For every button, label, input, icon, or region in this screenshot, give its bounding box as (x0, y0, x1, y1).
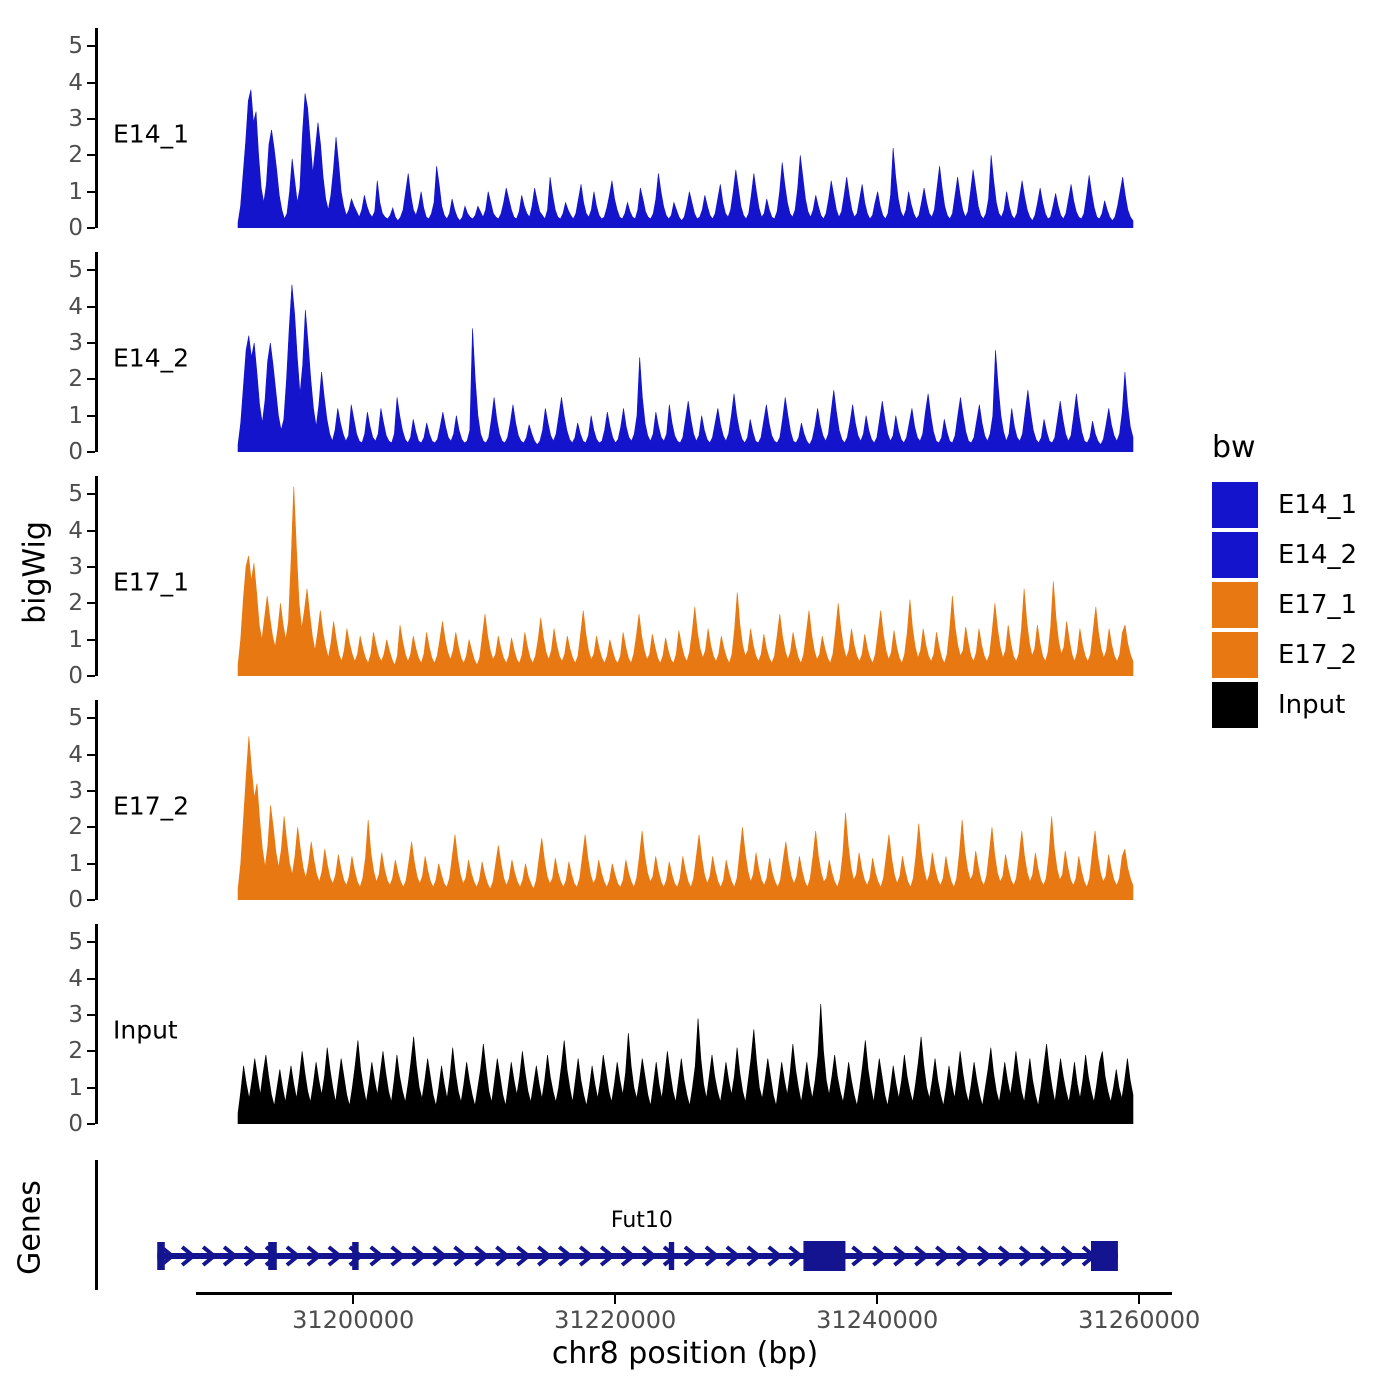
legend-item-e14_1[interactable]: E14_1 (1212, 482, 1357, 528)
y-tick-label: 2 (47, 1038, 83, 1064)
y-tick (87, 191, 95, 193)
legend-label: Input (1278, 690, 1345, 720)
y-tick (87, 82, 95, 84)
y-tick-label: 3 (47, 554, 83, 580)
x-tick-label: 31240000 (816, 1306, 938, 1334)
y-tick (87, 530, 95, 532)
x-tick-label: 31220000 (554, 1306, 676, 1334)
x-axis-title: chr8 position (bp) (400, 1336, 970, 1371)
y-tick-label: 1 (47, 403, 83, 429)
y-tick (87, 717, 95, 719)
y-tick (87, 754, 95, 756)
y-tick (87, 154, 95, 156)
y-tick (87, 941, 95, 943)
y-tick-label: 3 (47, 330, 83, 356)
y-tick-label: 5 (47, 257, 83, 283)
y-tick (87, 493, 95, 495)
y-tick (87, 1123, 95, 1125)
signal-area-e17_1 (98, 476, 1175, 676)
legend: bw E14_1E14_2E17_1E17_2Input (1212, 430, 1392, 680)
y-tick-label: 0 (47, 887, 83, 913)
y-tick (87, 826, 95, 828)
y-tick-label: 5 (47, 705, 83, 731)
y-tick-label: 4 (47, 966, 83, 992)
y-tick-label: 2 (47, 814, 83, 840)
y-tick (87, 118, 95, 120)
y-tick-label: 1 (47, 851, 83, 877)
signal-area-e14_2 (98, 252, 1175, 452)
legend-swatch-e14_1 (1212, 482, 1258, 528)
legend-swatch-input (1212, 682, 1258, 728)
legend-label: E17_2 (1278, 640, 1357, 670)
signal-area-e14_1 (98, 28, 1175, 228)
legend-label: E17_1 (1278, 590, 1357, 620)
track-panel-e14_1: 012345E14_1 (95, 28, 1175, 228)
x-tick-label: 31260000 (1078, 1306, 1200, 1334)
y-tick-label: 3 (47, 778, 83, 804)
signal-area-input (98, 924, 1175, 1124)
legend-item-e17_1[interactable]: E17_1 (1212, 582, 1357, 628)
gene-name-label: Fut10 (611, 1208, 673, 1233)
y-tick (87, 639, 95, 641)
x-tick (1138, 1295, 1140, 1304)
y-tick-label: 1 (47, 627, 83, 653)
y-tick (87, 978, 95, 980)
legend-title: bw (1212, 430, 1256, 465)
gene-track-panel: Fut10 (95, 1160, 1175, 1290)
legend-swatch-e14_2 (1212, 532, 1258, 578)
y-tick-label: 2 (47, 142, 83, 168)
y-tick-label: 1 (47, 1075, 83, 1101)
y-tick (87, 899, 95, 901)
legend-swatch-e17_2 (1212, 632, 1258, 678)
y-tick-label: 2 (47, 590, 83, 616)
y-tick (87, 863, 95, 865)
legend-item-e14_2[interactable]: E14_2 (1212, 532, 1357, 578)
y-tick (87, 602, 95, 604)
y-tick-label: 1 (47, 179, 83, 205)
y-tick (87, 451, 95, 453)
y-tick-label: 5 (47, 929, 83, 955)
y-tick-label: 2 (47, 366, 83, 392)
y-tick-label: 5 (47, 33, 83, 59)
y-tick-label: 3 (47, 106, 83, 132)
y-tick (87, 1087, 95, 1089)
y-tick (87, 675, 95, 677)
y-tick-label: 5 (47, 481, 83, 507)
legend-item-input[interactable]: Input (1212, 682, 1345, 728)
track-panel-e14_2: 012345E14_2 (95, 252, 1175, 452)
x-tick (614, 1295, 616, 1304)
y-tick (87, 566, 95, 568)
track-panel-input: 012345Input (95, 924, 1175, 1124)
y-tick-label: 4 (47, 518, 83, 544)
legend-item-e17_2[interactable]: E17_2 (1212, 632, 1357, 678)
y-tick (87, 306, 95, 308)
x-tick (352, 1295, 354, 1304)
y-tick (87, 342, 95, 344)
y-tick (87, 227, 95, 229)
y-tick (87, 790, 95, 792)
y-tick-label: 4 (47, 70, 83, 96)
y-tick (87, 45, 95, 47)
y-tick-label: 4 (47, 294, 83, 320)
y-tick-label: 0 (47, 215, 83, 241)
signal-area-e17_2 (98, 700, 1175, 900)
y-tick (87, 415, 95, 417)
y-tick-label: 4 (47, 742, 83, 768)
gene-axis-title: Genes (13, 1158, 48, 1298)
y-tick-label: 0 (47, 663, 83, 689)
track-panel-e17_2: 012345E17_2 (95, 700, 1175, 900)
y-tick (87, 378, 95, 380)
legend-label: E14_2 (1278, 540, 1357, 570)
track-panel-e17_1: 012345E17_1 (95, 476, 1175, 676)
y-tick-label: 0 (47, 439, 83, 465)
y-tick (87, 1014, 95, 1016)
x-axis-line (196, 1292, 1172, 1295)
y-tick (87, 269, 95, 271)
y-tick-label: 0 (47, 1111, 83, 1137)
legend-label: E14_1 (1278, 490, 1357, 520)
x-tick (876, 1295, 878, 1304)
x-tick-label: 31200000 (292, 1306, 414, 1334)
legend-swatch-e17_1 (1212, 582, 1258, 628)
y-tick (87, 1050, 95, 1052)
y-tick-label: 3 (47, 1002, 83, 1028)
